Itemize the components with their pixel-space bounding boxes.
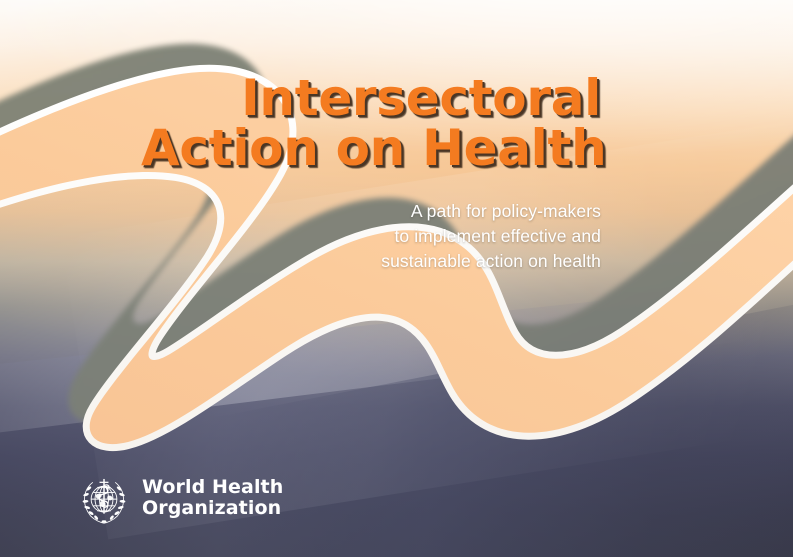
who-logo: World Health Organization xyxy=(76,470,283,526)
book-cover: Intersectoral Action on Health A path fo… xyxy=(0,0,793,557)
who-wordmark-line-2: Organization xyxy=(142,498,283,519)
who-wordmark: World Health Organization xyxy=(142,477,283,520)
who-emblem-icon xyxy=(76,470,132,526)
who-wordmark-line-1: World Health xyxy=(142,477,283,498)
